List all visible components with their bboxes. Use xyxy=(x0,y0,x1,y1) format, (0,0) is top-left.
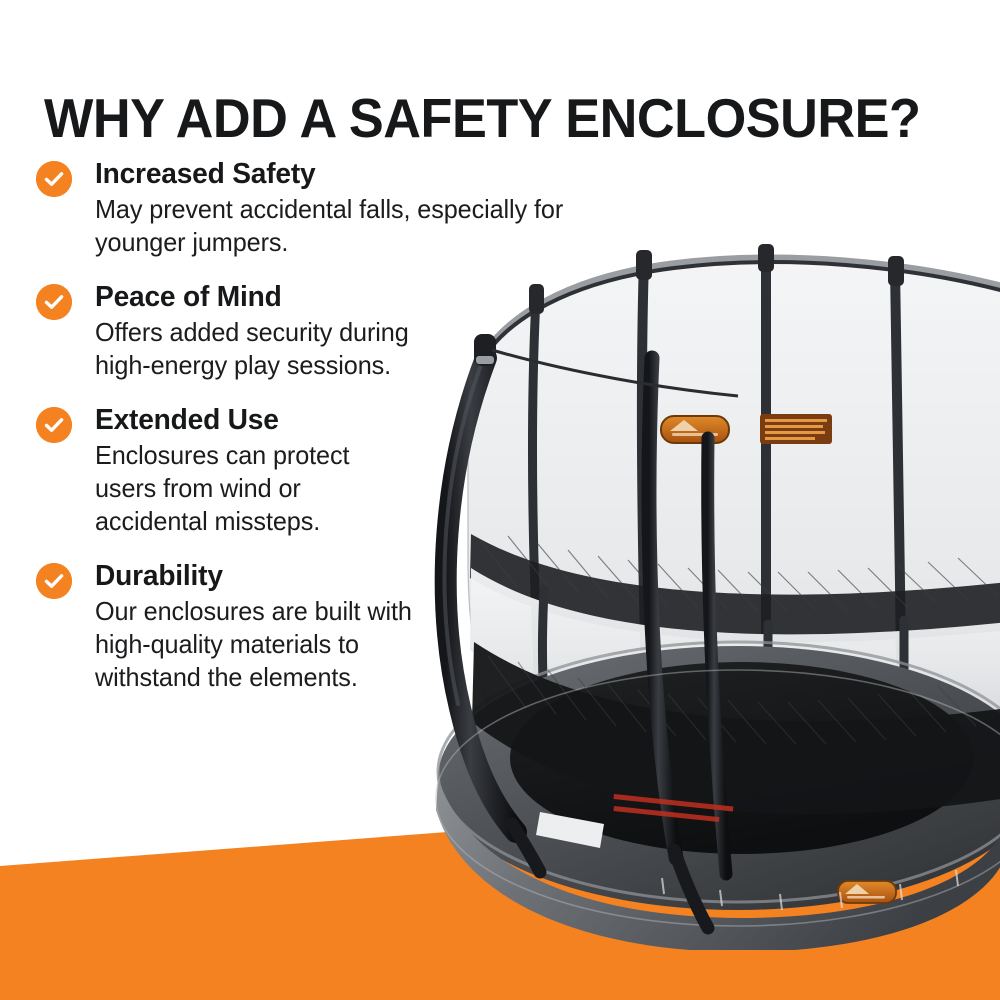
list-item: Durability Our enclosures are built with… xyxy=(36,560,626,694)
benefits-list: Increased Safety May prevent accidental … xyxy=(36,158,626,716)
benefit-title: Durability xyxy=(95,560,610,592)
benefit-description: Offers added security during high-energy… xyxy=(95,316,425,382)
spring-marks xyxy=(662,870,958,910)
warning-label-upper xyxy=(760,414,832,444)
benefit-title: Increased Safety xyxy=(95,158,610,190)
list-item: Increased Safety May prevent accidental … xyxy=(36,158,626,259)
benefit-title: Extended Use xyxy=(95,404,610,436)
poster-canvas: WHY ADD A SAFETY ENCLOSURE? Increased Sa… xyxy=(0,0,1000,1000)
list-item: Extended Use Enclosures can protect user… xyxy=(36,404,626,538)
benefit-description: Our enclosures are built with high-quali… xyxy=(95,595,444,694)
pole-feet xyxy=(512,824,708,928)
safety-sticker xyxy=(536,794,733,848)
brand-badge-upper xyxy=(661,416,729,443)
benefit-description: Enclosures can protect users from wind o… xyxy=(95,439,405,538)
benefit-title: Peace of Mind xyxy=(95,281,610,313)
check-circle-icon xyxy=(36,284,72,320)
page-title: WHY ADD A SAFETY ENCLOSURE? xyxy=(44,89,918,147)
benefit-description: May prevent accidental falls, especially… xyxy=(95,193,609,259)
check-circle-icon xyxy=(36,407,72,443)
interior-support-pole xyxy=(649,358,726,874)
check-circle-icon xyxy=(36,563,72,599)
list-item: Peace of Mind Offers added security duri… xyxy=(36,281,626,382)
check-circle-icon xyxy=(36,161,72,197)
brand-badge-lower xyxy=(838,881,896,903)
